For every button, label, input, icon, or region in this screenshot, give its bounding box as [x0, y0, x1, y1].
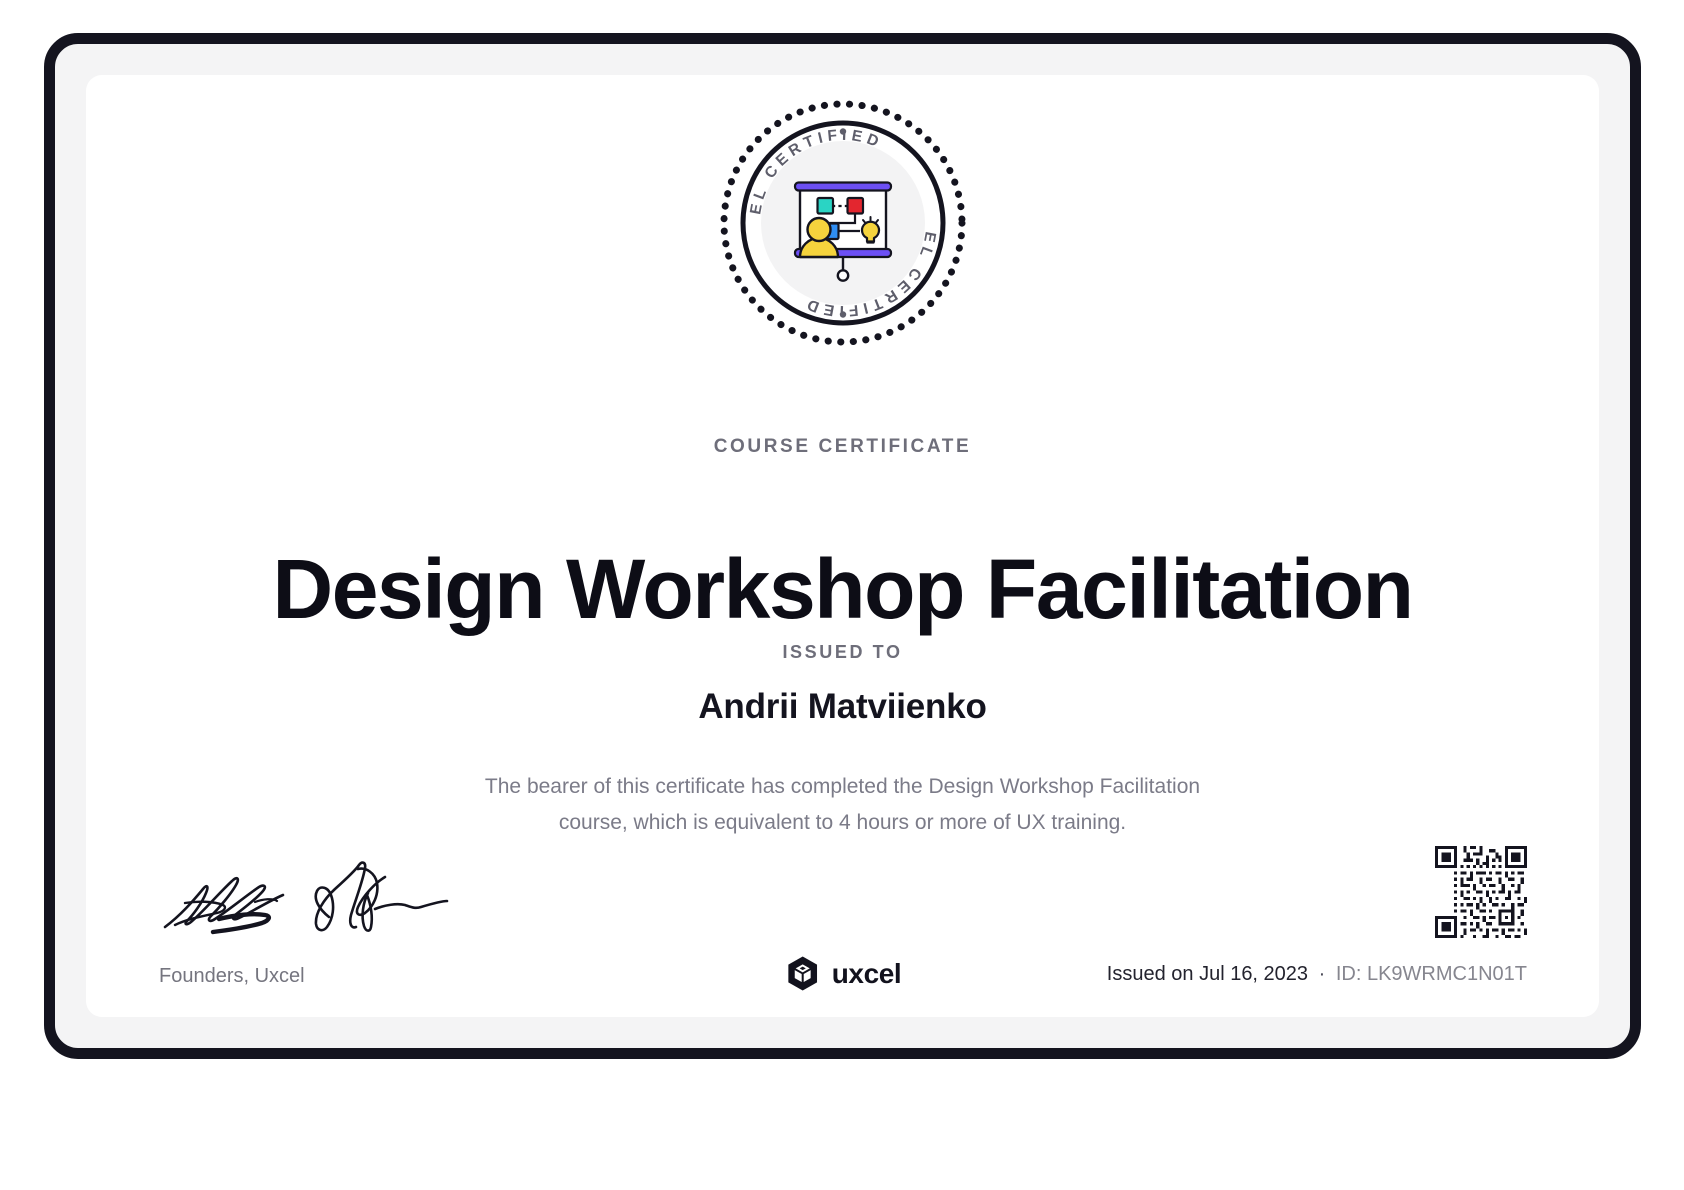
certificate-description: The bearer of this certificate has compl…: [443, 769, 1243, 841]
certificate-meta: Issued on Jul 16, 2023 · ID: LK9WRMC1N01…: [1107, 963, 1527, 986]
course-title: Design Workshop Facilitation: [86, 546, 1599, 633]
issued-on-date: Issued on Jul 16, 2023: [1107, 963, 1308, 985]
description-line-2: course, which is equivalent to 4 hours o…: [559, 811, 1126, 834]
uxcel-hexagon-cube-icon: [784, 955, 821, 992]
meta-separator: ·: [1314, 963, 1331, 985]
verification-qr-code[interactable]: [1435, 846, 1527, 938]
signature-caption: Founders, Uxcel: [159, 965, 305, 988]
badge-seal-icon: UXCEL CERTIFIED UXCEL CERTIFIED: [717, 97, 969, 349]
founder-signatures-image: [159, 857, 449, 939]
recipient-name: Andrii Matviienko: [86, 687, 1599, 727]
certificate-badge: UXCEL CERTIFIED UXCEL CERTIFIED: [86, 97, 1599, 349]
issued-to-label: ISSUED TO: [86, 642, 1599, 663]
course-certificate-kicker: COURSE CERTIFICATE: [86, 436, 1599, 458]
description-line-1: The bearer of this certificate has compl…: [485, 775, 1200, 798]
uxcel-brand: uxcel: [784, 955, 902, 992]
uxcel-wordmark: uxcel: [832, 958, 902, 990]
certificate-id: ID: LK9WRMC1N01T: [1336, 963, 1527, 985]
certificate-frame: UXCEL CERTIFIED UXCEL CERTIFIED: [44, 33, 1641, 1059]
certificate-card: UXCEL CERTIFIED UXCEL CERTIFIED: [86, 75, 1599, 1017]
